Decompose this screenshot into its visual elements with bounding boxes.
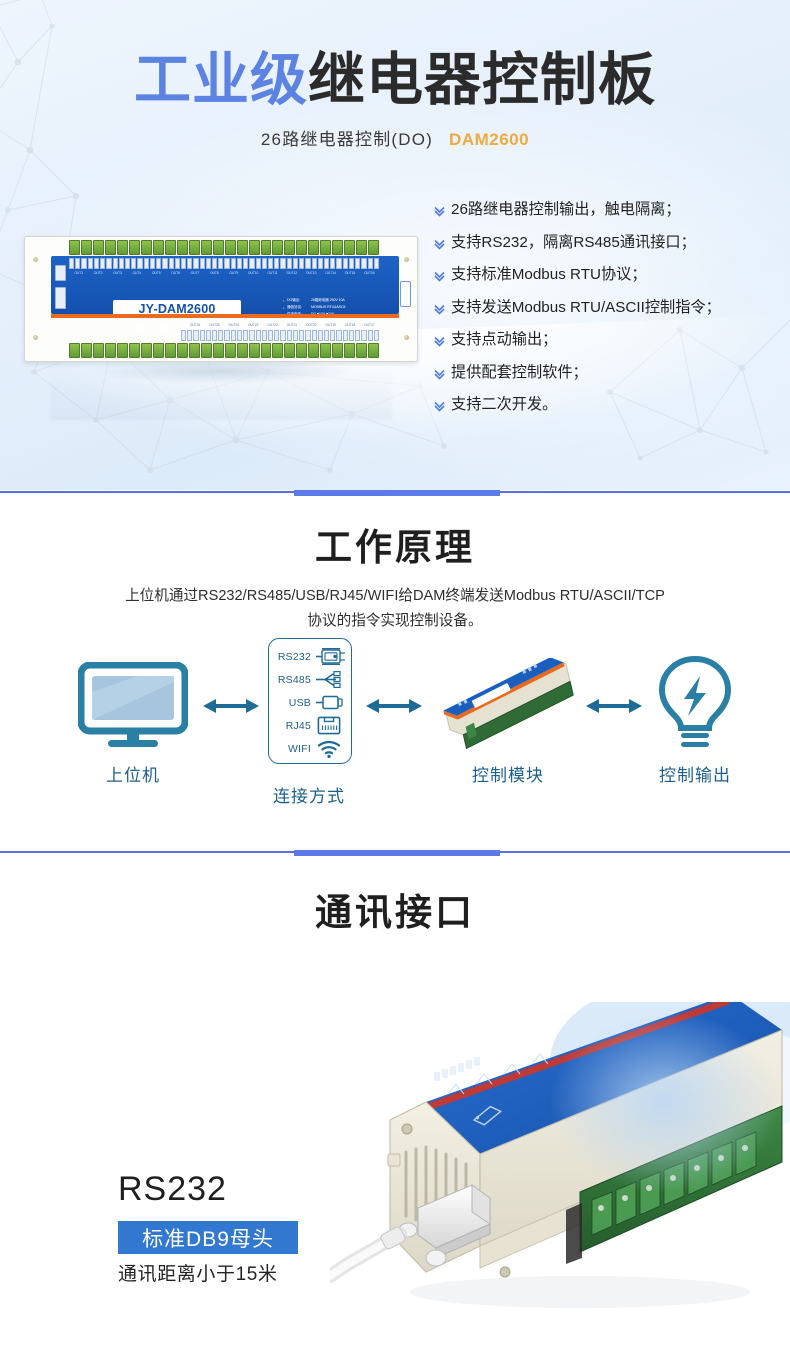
out-label: OUT8 — [205, 271, 224, 279]
flow-node-connection-methods: RS232 RS485 — [268, 638, 352, 764]
flow-arrow-3 — [586, 696, 642, 721]
double-chevron-down-icon — [434, 230, 451, 250]
feature-text: 支持标准Modbus RTU协议； — [451, 262, 647, 288]
connection-row: RJ45 — [269, 714, 351, 737]
double-chevron-down-icon — [434, 197, 451, 217]
connection-label: USB — [269, 697, 316, 709]
feature-text: 支持发送Modbus RTU/ASCII控制指令； — [451, 295, 721, 321]
out-label: OUT16 — [360, 271, 379, 279]
double-chevron-down-icon — [434, 360, 451, 380]
top-out-labels: OUT1 OUT2 OUT3 OUT4 OUT5 OUT6 OUT7 OUT8 … — [69, 271, 379, 279]
relay-module-icon — [432, 658, 584, 754]
flow-node-host-computer — [78, 662, 188, 753]
double-chevron-down-icon — [434, 295, 451, 315]
rs232-distance-note: 通讯距离小于15米 — [118, 1265, 278, 1284]
product-model: DAM2600 — [449, 130, 529, 149]
out-label: OUT7 — [185, 271, 204, 279]
out-label: OUT6 — [166, 271, 185, 279]
connection-label: WIFI — [269, 743, 316, 755]
top-terminal-strip — [69, 240, 379, 255]
spec-value: 26路继电器 250V 10A — [311, 298, 345, 303]
section-divider — [0, 847, 790, 857]
double-chevron-down-icon — [434, 327, 451, 347]
usb-plug-icon — [316, 694, 350, 711]
page-subtitle: 26路继电器控制(DO)DAM2600 — [0, 131, 790, 148]
ethernet-jack-icon — [316, 716, 350, 735]
flow-node-control-output — [655, 654, 735, 759]
divider-accent-bar — [294, 490, 500, 496]
out-label: OUT13 — [302, 271, 321, 279]
rs232-connector-badge: 标准DB9母头 — [118, 1221, 298, 1254]
double-chevron-down-icon — [434, 392, 451, 412]
power-connector — [55, 265, 66, 281]
rs485-wire-icon — [316, 671, 350, 688]
spec-item: • 通信协议: MODBUS RTU&ASCII — [283, 305, 415, 310]
out-label: OUT9 — [224, 271, 243, 279]
feature-item: 提供配套控制软件； — [434, 360, 779, 386]
connection-row: RS485 — [269, 668, 351, 691]
board-logo-text: JY-DAM2600 — [138, 302, 215, 316]
connection-row: RS232 — [269, 645, 351, 668]
out-label: OUT5 — [147, 271, 166, 279]
out-label: OUT12 — [282, 271, 301, 279]
spec-item: • DO输出: 26路继电器 250V 10A — [283, 298, 415, 303]
out-label: OUT11 — [263, 271, 282, 279]
monitor-icon — [78, 662, 188, 748]
feature-item: 支持二次开发。 — [434, 392, 779, 418]
connection-row: WIFI — [269, 737, 351, 760]
board-logo-badge: JY-DAM2600 — [113, 300, 241, 318]
spec-value: MODBUS RTU&ASCII — [311, 305, 345, 310]
wifi-icon — [316, 740, 350, 758]
feature-list: 26路继电器控制输出，触电隔离； 支持RS232，隔离RS485通讯接口； 支持… — [434, 197, 779, 425]
principle-section-title: 工作原理 — [0, 529, 790, 566]
feature-item: 支持RS232，隔离RS485通讯接口； — [434, 230, 779, 256]
page-title: 工业级继电器控制板 — [0, 52, 790, 109]
connection-label: RS485 — [269, 674, 316, 686]
flow-node-control-module — [432, 658, 584, 759]
bottom-terminal-strip — [69, 343, 379, 358]
mount-screw — [404, 335, 409, 340]
title-rest: 继电器控制板 — [308, 48, 656, 112]
flow-arrow-2 — [366, 696, 422, 721]
feature-item: 支持点动输出； — [434, 327, 779, 353]
hero-section: 工业级继电器控制板 26路继电器控制(DO)DAM2600 — [0, 0, 790, 490]
connection-label: RJ45 — [269, 720, 316, 732]
connection-row: USB — [269, 691, 351, 714]
out-label: OUT4 — [127, 271, 146, 279]
flow-node-label-control-module: 控制模块 — [428, 761, 588, 786]
rs232-badge-label: 标准DB9母头 — [142, 1223, 274, 1253]
relay-board: JY-DAM2600 继电器控制模块 • DO输出: 26路继电器 250V 1… — [24, 236, 418, 362]
photo-glow — [500, 1002, 790, 1232]
product-board-image: JY-DAM2600 继电器控制模块 • DO输出: 26路继电器 250V 1… — [24, 236, 416, 366]
feature-text: 支持点动输出； — [451, 327, 557, 353]
divider-accent-bar — [294, 850, 500, 856]
interface-section-title: 通讯接口 — [0, 894, 790, 931]
rs232-standard-title: RS232 — [118, 1172, 227, 1206]
out-label: OUT2 — [88, 271, 107, 279]
principle-flow-diagram: 上位机 RS232 — [0, 636, 790, 826]
out-label: OUT14 — [321, 271, 340, 279]
out-label: OUT15 — [340, 271, 359, 279]
feature-item: 支持标准Modbus RTU协议； — [434, 262, 779, 288]
feature-text: 26路继电器控制输出，触电隔离； — [451, 197, 681, 223]
lightbulb-icon — [655, 654, 735, 754]
spec-key: 供电电压: — [287, 312, 311, 317]
flow-node-label-control-output: 控制输出 — [615, 761, 775, 786]
subtitle-description: 26路继电器控制(DO) — [261, 130, 433, 149]
rs232-product-photo — [330, 1002, 790, 1361]
out-label: OUT1 — [69, 271, 88, 279]
out-label: OUT10 — [243, 271, 262, 279]
bottom-pin-header — [69, 330, 379, 341]
mount-screw — [33, 257, 38, 262]
section-divider — [0, 487, 790, 497]
feature-item: 支持发送Modbus RTU/ASCII控制指令； — [434, 295, 779, 321]
connection-label: RS232 — [269, 651, 316, 663]
spec-key: DO输出: — [287, 298, 311, 303]
spec-item: • 供电电压: DC ■12V ■24V — [283, 312, 415, 317]
double-chevron-down-icon — [434, 262, 451, 282]
top-pin-header — [69, 258, 379, 269]
feature-text: 提供配套控制软件； — [451, 360, 588, 386]
spec-value: DC ■12V ■24V — [311, 312, 334, 317]
out-label: OUT3 — [108, 271, 127, 279]
spec-key: 通信协议: — [287, 305, 311, 310]
flow-node-label-host-computer: 上位机 — [53, 761, 213, 786]
db9-connector-icon — [316, 648, 350, 665]
flow-node-label-connection-methods: 连接方式 — [229, 782, 389, 807]
principle-description-line2: 协议的指令实现控制设备。 — [0, 609, 790, 634]
mount-screw — [404, 257, 409, 262]
flow-arrow-1 — [203, 696, 259, 721]
mount-screw — [33, 335, 38, 340]
feature-text: 支持二次开发。 — [451, 392, 557, 418]
comm-connector — [55, 287, 66, 309]
title-highlight: 工业级 — [134, 48, 308, 112]
rj45-port — [400, 281, 411, 307]
product-detail-page: 工业级继电器控制板 26路继电器控制(DO)DAM2600 — [0, 0, 790, 1361]
feature-text: 支持RS232，隔离RS485通讯接口； — [451, 230, 696, 256]
board-reflection — [50, 364, 392, 420]
principle-description-line1: 上位机通过RS232/RS485/USB/RJ45/WIFI给DAM终端发送Mo… — [0, 584, 790, 609]
feature-item: 26路继电器控制输出，触电隔离； — [434, 197, 779, 223]
